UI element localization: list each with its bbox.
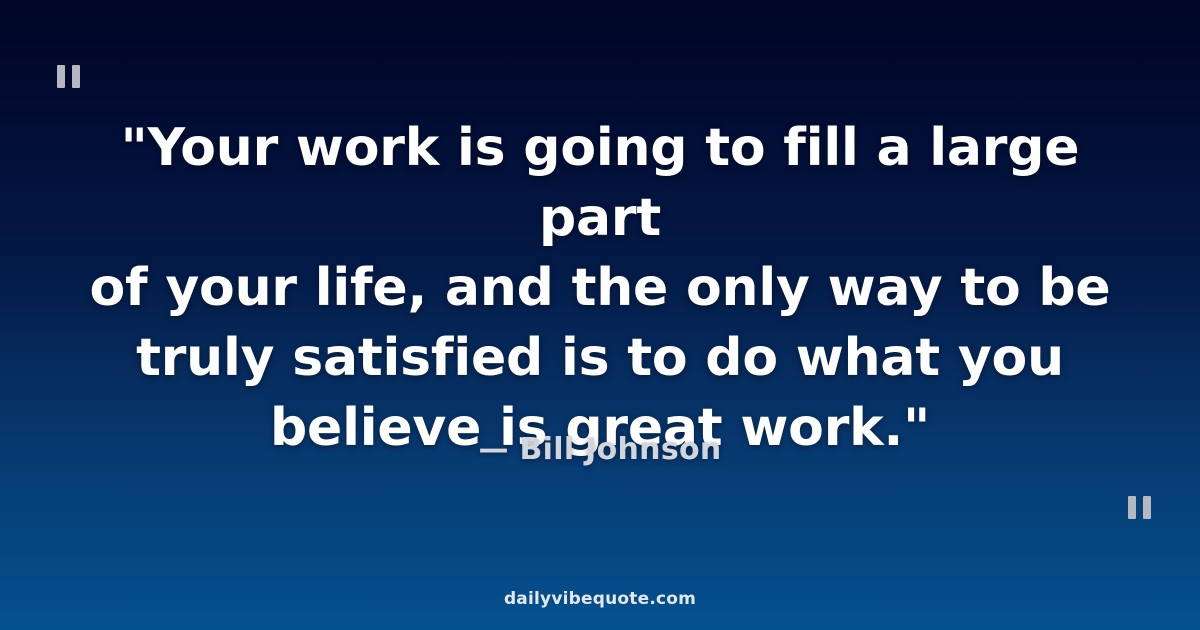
quote-bar-left — [1128, 496, 1136, 519]
quote-bar-left — [57, 65, 65, 88]
quote-mark-icon-bottom-right — [1128, 496, 1151, 519]
quote-card: "Your work is going to fill a large part… — [0, 0, 1200, 630]
quote-bar-right — [72, 65, 80, 88]
quote-attribution: — Bill Johnson — [0, 432, 1200, 467]
site-footer-label: dailyvibequote.com — [0, 589, 1200, 609]
quote-bar-right — [1143, 496, 1151, 519]
quote-text: "Your work is going to fill a large part… — [56, 113, 1144, 463]
quote-mark-icon-top-left — [57, 65, 80, 88]
quote-body: "Your work is going to fill a large part… — [0, 113, 1200, 463]
